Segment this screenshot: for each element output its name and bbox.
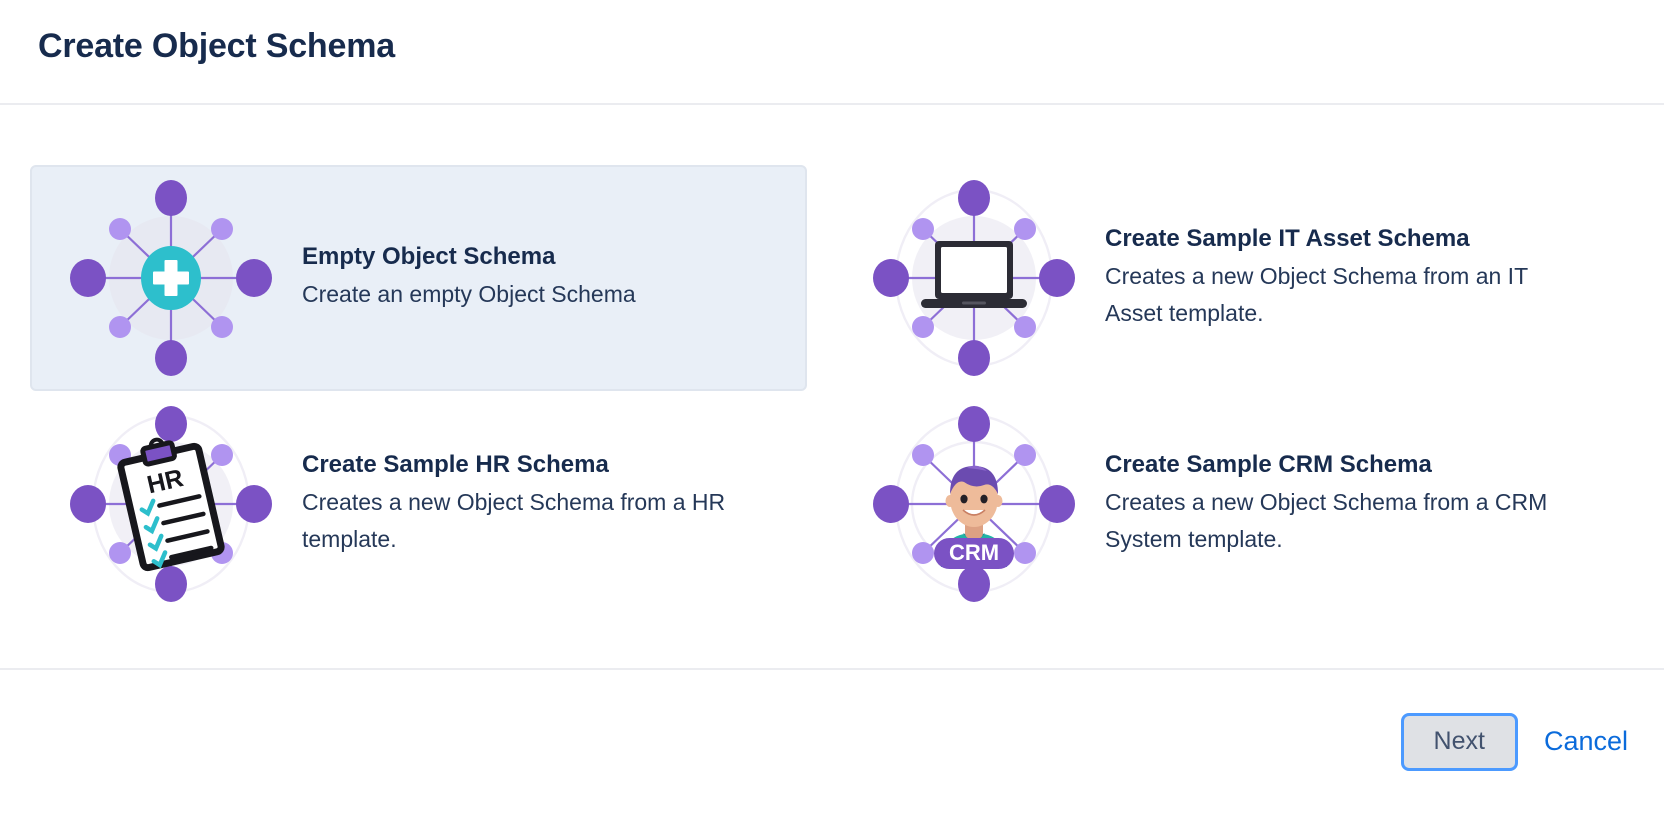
next-button[interactable]: Next: [1401, 713, 1518, 771]
crm-badge-label: CRM: [949, 540, 999, 565]
hub-laptop-icon: [849, 168, 1099, 388]
dialog-footer: Next Cancel: [0, 668, 1664, 814]
page-title: Create Object Schema: [38, 28, 1664, 65]
schema-card-description: Creates a new Object Schema from a CRM S…: [1105, 484, 1575, 559]
schema-card-description: Creates a new Object Schema from a HR te…: [302, 484, 772, 559]
schema-option-grid: Empty Object Schema Create an empty Obje…: [30, 165, 1610, 617]
hub-person-icon: CRM: [849, 394, 1099, 614]
dialog-header: Create Object Schema: [0, 0, 1664, 105]
hub-clipboard-icon: HR: [46, 394, 296, 614]
schema-card-text: Create Sample IT Asset Schema Creates a …: [1099, 224, 1594, 333]
hub-plus-icon: [46, 168, 296, 388]
schema-card-text: Create Sample HR Schema Creates a new Ob…: [296, 450, 791, 559]
schema-card-sample-hr-schema[interactable]: HR: [30, 391, 807, 617]
schema-card-text: Create Sample CRM Schema Creates a new O…: [1099, 450, 1594, 559]
schema-card-description: Create an empty Object Schema: [302, 276, 772, 313]
schema-card-title: Create Sample CRM Schema: [1105, 450, 1594, 480]
schema-card-title: Empty Object Schema: [302, 242, 791, 272]
schema-card-title: Create Sample HR Schema: [302, 450, 791, 480]
schema-card-description: Creates a new Object Schema from an IT A…: [1105, 258, 1575, 333]
schema-card-sample-crm-schema[interactable]: CRM Create Sample CRM Schema Creates a n…: [833, 391, 1610, 617]
schema-card-sample-it-asset-schema[interactable]: Create Sample IT Asset Schema Creates a …: [833, 165, 1610, 391]
schema-card-title: Create Sample IT Asset Schema: [1105, 224, 1594, 254]
schema-card-empty-object-schema[interactable]: Empty Object Schema Create an empty Obje…: [30, 165, 807, 391]
schema-card-text: Empty Object Schema Create an empty Obje…: [296, 242, 791, 313]
cancel-link[interactable]: Cancel: [1544, 726, 1628, 759]
dialog-body: Empty Object Schema Create an empty Obje…: [0, 107, 1664, 668]
